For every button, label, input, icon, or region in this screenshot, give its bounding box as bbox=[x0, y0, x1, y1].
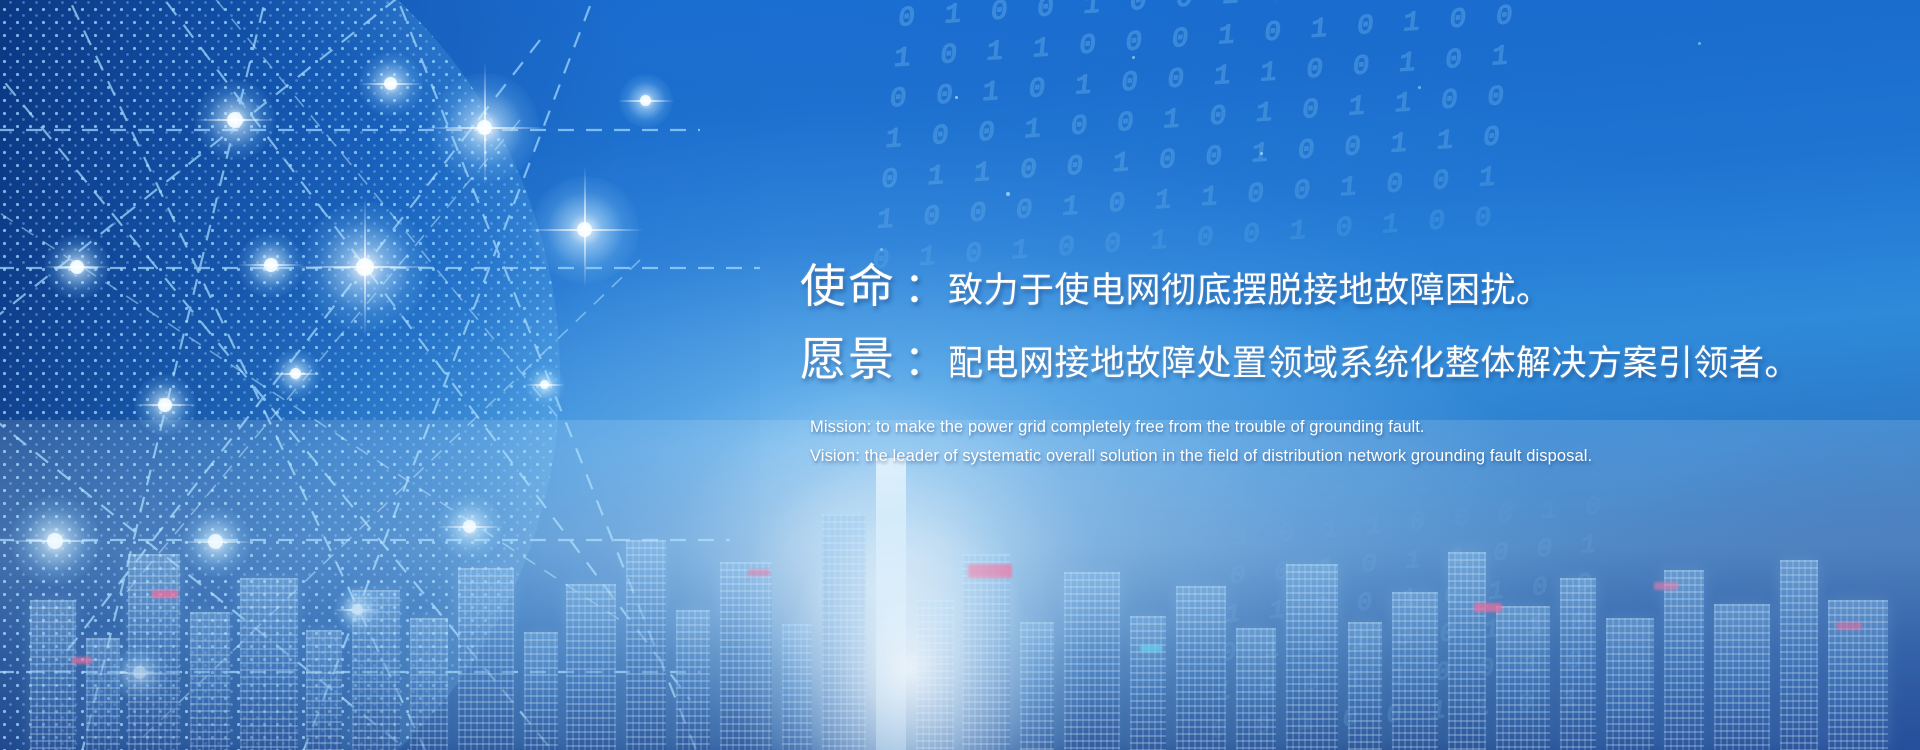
building bbox=[128, 554, 180, 750]
building bbox=[566, 584, 616, 750]
building bbox=[524, 632, 558, 750]
sparkle-dot bbox=[1418, 86, 1421, 89]
network-node bbox=[208, 534, 223, 549]
network-node bbox=[640, 95, 651, 106]
building bbox=[1348, 622, 1382, 750]
neon-sign bbox=[1474, 603, 1502, 612]
neon-sign bbox=[152, 590, 178, 598]
network-node bbox=[463, 520, 476, 533]
mission-text-en: Mission: to make the power grid complete… bbox=[810, 413, 1890, 442]
sparkle-dot bbox=[1698, 42, 1701, 45]
neon-sign bbox=[72, 657, 92, 664]
building bbox=[626, 540, 666, 750]
network-node bbox=[290, 368, 301, 379]
neon-sign bbox=[1836, 622, 1862, 630]
sparkle-dot bbox=[955, 96, 958, 99]
building bbox=[1496, 606, 1550, 750]
sparkle-dot bbox=[1006, 192, 1010, 196]
sparkle-dot bbox=[1260, 152, 1263, 155]
network-node bbox=[356, 258, 374, 276]
building bbox=[676, 610, 710, 750]
neon-sign bbox=[1140, 645, 1162, 652]
building bbox=[1664, 570, 1704, 750]
building bbox=[1560, 578, 1596, 750]
vision-line: 愿景 ： 配电网接地故障处置领域系统化整体解决方案引领者。 bbox=[800, 328, 1890, 395]
building bbox=[86, 638, 120, 750]
network-node bbox=[264, 258, 278, 272]
english-subtitle-block: Mission: to make the power grid complete… bbox=[800, 413, 1890, 471]
sparkle-dot bbox=[1132, 56, 1135, 59]
network-node bbox=[227, 112, 243, 128]
network-node bbox=[477, 120, 492, 135]
globe-rim-glow bbox=[0, 0, 560, 750]
building bbox=[1130, 616, 1166, 750]
network-node bbox=[70, 260, 84, 274]
building bbox=[306, 630, 342, 750]
network-node bbox=[384, 77, 397, 90]
building bbox=[1392, 592, 1438, 750]
mission-vision-text-block: 使命 ： 致力于使电网彻底摆脱接地故障困扰。 愿景 ： 配电网接地故障处置领域系… bbox=[800, 255, 1890, 471]
mission-line: 使命 ： 致力于使电网彻底摆脱接地故障困扰。 bbox=[800, 255, 1890, 322]
mission-colon: ： bbox=[896, 257, 948, 319]
vision-text-en: Vision: the leader of systematic overall… bbox=[810, 442, 1890, 471]
building bbox=[916, 600, 954, 750]
building bbox=[1780, 560, 1818, 750]
globe-limb-dots bbox=[0, 0, 560, 750]
building bbox=[1176, 586, 1226, 750]
mission-label: 使命 bbox=[800, 255, 896, 317]
building bbox=[1606, 618, 1654, 750]
building bbox=[962, 554, 1010, 750]
vision-text-cn: 配电网接地故障处置领域系统化整体解决方案引领者。 bbox=[948, 333, 1800, 395]
building bbox=[1064, 572, 1120, 750]
building bbox=[822, 514, 866, 750]
building bbox=[1828, 600, 1888, 750]
mission-vision-banner: 0 1 0 0 1 0 0 1 0 1 1 0 0 0 1 0 1 1 0 0 … bbox=[0, 0, 1920, 750]
building bbox=[1286, 564, 1338, 750]
building bbox=[30, 600, 76, 750]
network-node-flare bbox=[484, 62, 486, 186]
vision-colon: ： bbox=[896, 330, 948, 392]
building bbox=[782, 624, 812, 750]
mission-text-cn: 致力于使电网彻底摆脱接地故障困扰。 bbox=[948, 260, 1552, 322]
network-node-flare bbox=[364, 196, 366, 338]
network-node bbox=[158, 398, 172, 412]
network-node bbox=[133, 666, 146, 679]
network-node bbox=[577, 222, 592, 237]
bottom-vignette bbox=[0, 450, 1920, 750]
building bbox=[720, 562, 772, 750]
building bbox=[1448, 552, 1486, 750]
building bbox=[1236, 628, 1276, 750]
building bbox=[190, 612, 230, 750]
building bbox=[1714, 604, 1770, 750]
network-node bbox=[540, 380, 549, 389]
sparkle-dot bbox=[880, 248, 883, 251]
building bbox=[410, 618, 448, 750]
building bbox=[458, 568, 514, 750]
network-node bbox=[352, 604, 363, 615]
neon-sign bbox=[1654, 582, 1678, 590]
building-tower-main bbox=[876, 458, 906, 750]
building bbox=[352, 590, 400, 750]
vision-label: 愿景 bbox=[800, 328, 896, 390]
neon-sign bbox=[748, 569, 770, 576]
building bbox=[240, 578, 298, 750]
network-node bbox=[47, 533, 63, 549]
network-node-flare bbox=[584, 166, 586, 288]
left-vignette bbox=[0, 0, 760, 750]
dotted-globe-graphic bbox=[0, 0, 560, 750]
globe-dot-matrix bbox=[0, 0, 560, 750]
neon-sign bbox=[968, 564, 1012, 578]
building bbox=[1020, 622, 1054, 750]
